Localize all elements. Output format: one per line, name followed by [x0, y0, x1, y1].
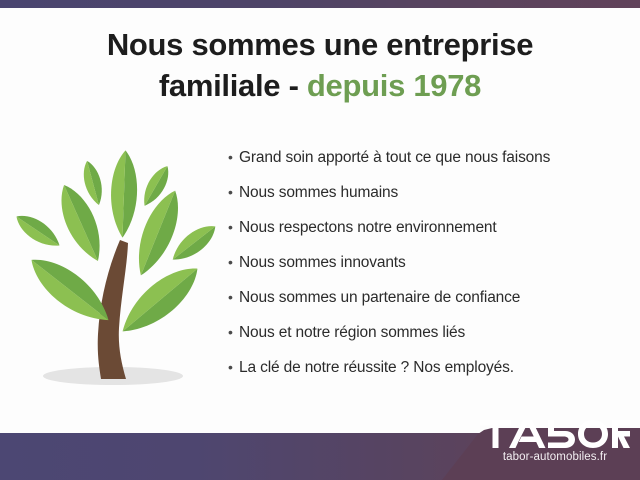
value-proposition-list: • Grand soin apporté à tout ce que nous …	[228, 148, 628, 393]
list-item-label: Nous sommes innovants	[239, 253, 406, 272]
list-item: • Nous et notre région sommes liés	[228, 323, 628, 358]
bullet-marker-icon: •	[228, 288, 239, 307]
brand-logo[interactable]: tabor-automobiles.fr	[480, 418, 630, 463]
list-item-label: Nous sommes un partenaire de confiance	[239, 288, 520, 307]
list-item: • Grand soin apporté à tout ce que nous …	[228, 148, 628, 183]
list-item-label: Nous et notre région sommes liés	[239, 323, 465, 342]
bullet-marker-icon: •	[228, 253, 239, 272]
tree-icon	[8, 148, 223, 393]
list-item-label: Grand soin apporté à tout ce que nous fa…	[239, 148, 550, 167]
list-item-label: Nous respectons notre environnement	[239, 218, 497, 237]
slide-canvas: Nous sommes une entreprise familiale - d…	[0, 0, 640, 480]
bullet-marker-icon: •	[228, 323, 239, 342]
tree-illustration	[8, 148, 223, 393]
headline-line-1: Nous sommes une entreprise	[0, 24, 640, 65]
brand-website-url[interactable]: tabor-automobiles.fr	[480, 451, 630, 463]
list-item-label: La clé de notre réussite ? Nos employés.	[239, 358, 514, 377]
list-item: • La clé de notre réussite ? Nos employé…	[228, 358, 628, 393]
page-title: Nous sommes une entreprise familiale - d…	[0, 24, 640, 106]
headline-line-2: familiale - depuis 1978	[0, 65, 640, 106]
list-item: • Nous sommes innovants	[228, 253, 628, 288]
list-item: • Nous sommes humains	[228, 183, 628, 218]
bullet-marker-icon: •	[228, 218, 239, 237]
bullet-marker-icon: •	[228, 148, 239, 167]
tabor-wordmark-icon	[480, 418, 630, 450]
bullet-marker-icon: •	[228, 358, 239, 377]
headline-line-2-plain: familiale -	[159, 68, 299, 103]
list-item: • Nous respectons notre environnement	[228, 218, 628, 253]
bullet-marker-icon: •	[228, 183, 239, 202]
list-item-label: Nous sommes humains	[239, 183, 398, 202]
list-item: • Nous sommes un partenaire de confiance	[228, 288, 628, 323]
top-accent-bar	[0, 0, 640, 8]
headline-year-accent: depuis 1978	[307, 68, 481, 103]
